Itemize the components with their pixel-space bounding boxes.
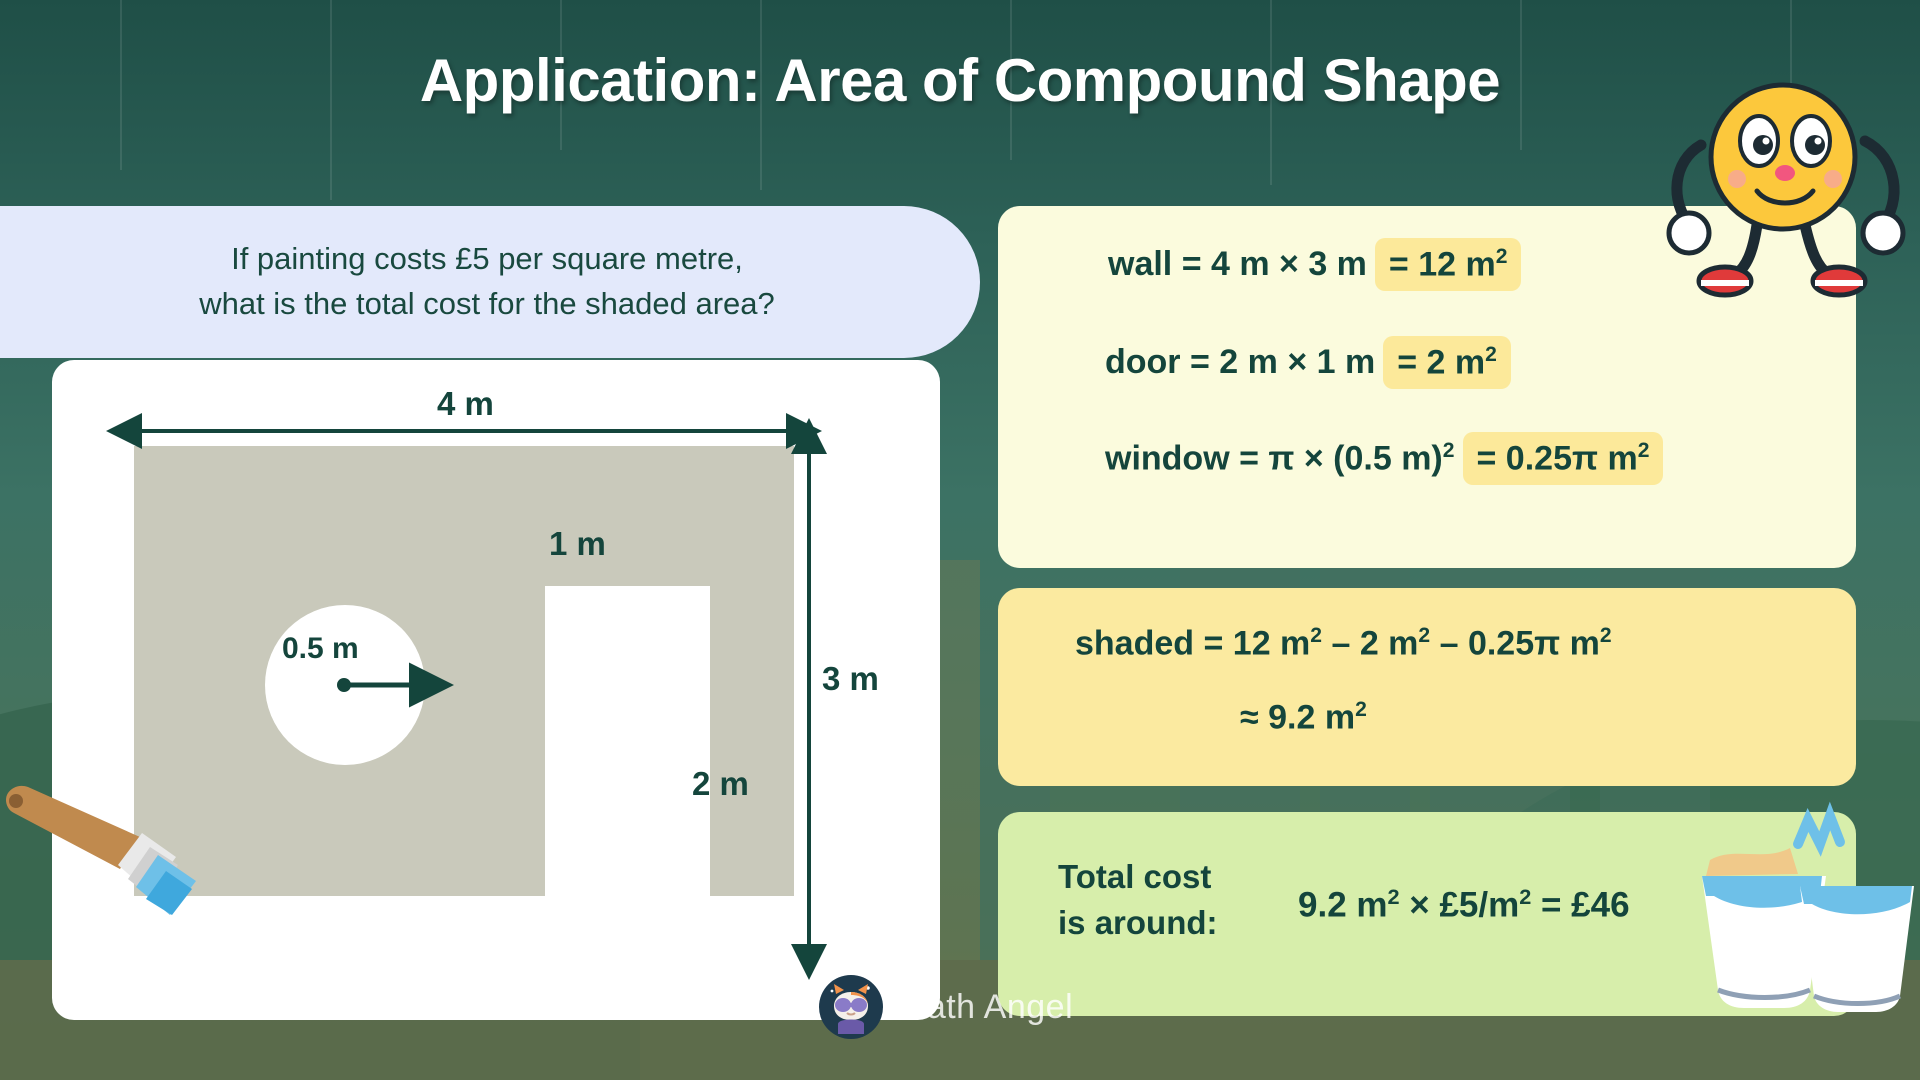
paint-buckets-illustration bbox=[1680, 800, 1920, 1020]
dimension-arrows bbox=[52, 360, 940, 1020]
formula-row-wall: wall = 4 m × 3 m = 12 m2 bbox=[1108, 238, 1521, 291]
formula-row-door: door = 2 m × 1 m = 2 m2 bbox=[1105, 336, 1511, 389]
diagram-card: 4 m 1 m 0.5 m 3 m 2 m bbox=[52, 360, 940, 1020]
formula-door-result: = 2 m2 bbox=[1383, 336, 1511, 389]
compound-shape-diagram: 4 m 1 m 0.5 m 3 m 2 m bbox=[52, 360, 940, 1020]
mascot-leg-right bbox=[1805, 225, 1865, 295]
formula-door-lead: door = 2 m × 1 m bbox=[1105, 343, 1375, 382]
shaded-approximation: ≈ 9.2 m2 bbox=[1240, 698, 1367, 737]
total-cost-label: Total cost is around: bbox=[1058, 854, 1218, 946]
page-title: Application: Area of Compound Shape bbox=[0, 46, 1920, 115]
shaded-area-box: shaded = 12 m2 – 2 m2 – 0.25π m2 ≈ 9.2 m… bbox=[998, 588, 1856, 786]
total-cost-formula: 9.2 m2 × £5/m2 = £46 bbox=[1298, 884, 1630, 926]
question-bubble: If painting costs £5 per square metre, w… bbox=[0, 206, 980, 358]
mascot-arm-right bbox=[1863, 141, 1903, 253]
mascot-face bbox=[1711, 85, 1855, 229]
formula-window-result: = 0.25π m2 bbox=[1463, 432, 1664, 485]
mascot-arm-left bbox=[1669, 145, 1709, 253]
formula-row-window: window = π × (0.5 m)2 = 0.25π m2 bbox=[1105, 432, 1663, 485]
formula-window-lead: window = π × (0.5 m)2 bbox=[1105, 439, 1455, 478]
watermark: Math Angel bbox=[818, 972, 1073, 1042]
dim-label-door-width: 1 m bbox=[549, 525, 606, 563]
shaded-expression: shaded = 12 m2 – 2 m2 – 0.25π m2 bbox=[1075, 624, 1612, 663]
question-line-1: If painting costs £5 per square metre, bbox=[199, 237, 775, 282]
formula-wall-result: = 12 m2 bbox=[1375, 238, 1522, 291]
question-line-2: what is the total cost for the shaded ar… bbox=[199, 282, 775, 327]
formula-wall-lead: wall = 4 m × 3 m bbox=[1108, 245, 1367, 284]
total-cost-label-line-1: Total cost bbox=[1058, 854, 1218, 900]
total-cost-label-line-2: is around: bbox=[1058, 900, 1218, 946]
math-angel-logo-icon bbox=[818, 974, 884, 1040]
watermark-text: Math Angel bbox=[898, 988, 1073, 1027]
dim-label-width: 4 m bbox=[437, 385, 494, 423]
mascot-character bbox=[1665, 75, 1915, 305]
question-text: If painting costs £5 per square metre, w… bbox=[165, 237, 775, 327]
paint-brush-illustration bbox=[0, 765, 220, 915]
dim-label-height: 3 m bbox=[822, 660, 879, 698]
dim-label-door-height: 2 m bbox=[692, 765, 749, 803]
dim-label-window-radius: 0.5 m bbox=[282, 632, 359, 666]
